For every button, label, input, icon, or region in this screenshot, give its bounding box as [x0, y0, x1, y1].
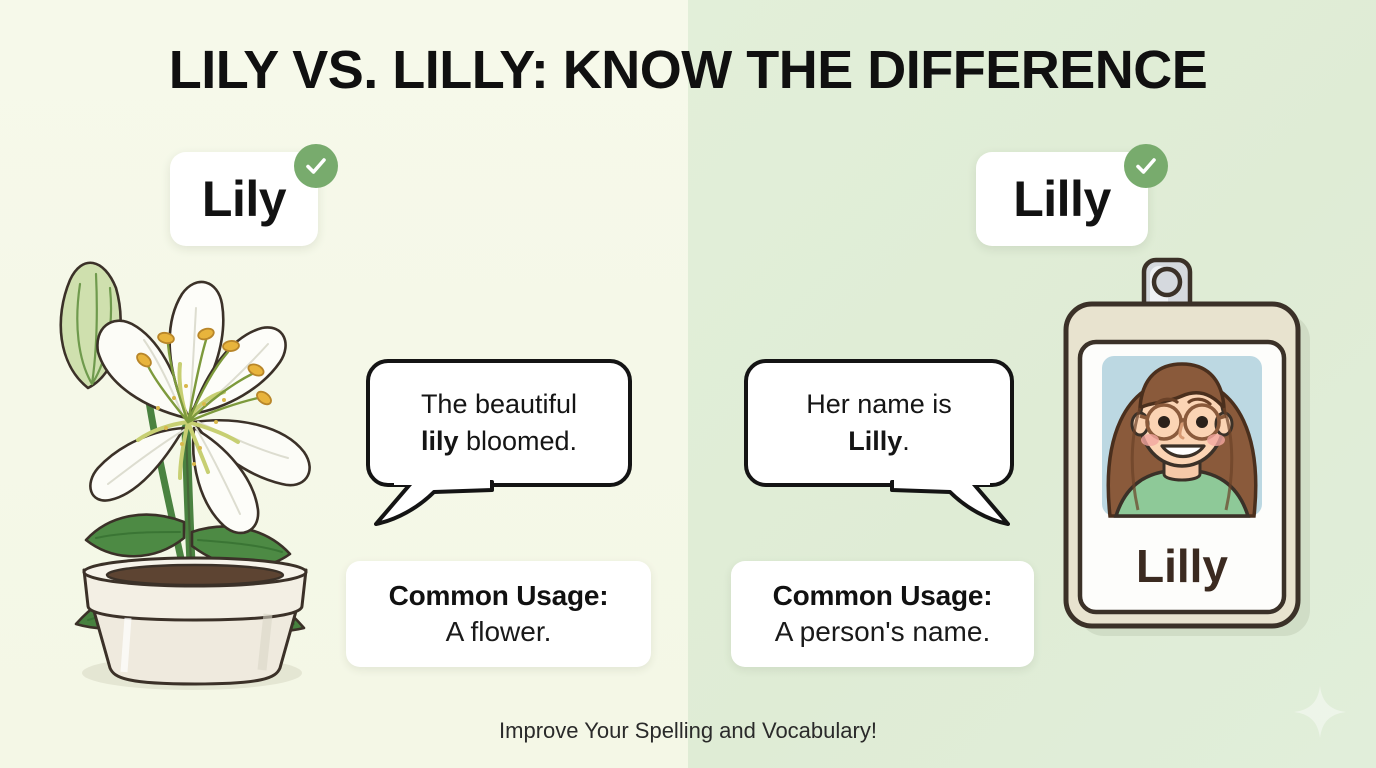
usage-card-lily-value: A flower. [446, 614, 552, 650]
left-eye [1158, 416, 1170, 428]
check-circle-icon-lilly [1124, 144, 1168, 188]
example-bubble-lilly: Her name is Lilly. [744, 359, 1014, 487]
bubble-tail-left [374, 480, 494, 526]
check-circle-icon-lily [294, 144, 338, 188]
bubble-right-line1: Her name is [806, 389, 952, 419]
check-icon [1133, 153, 1159, 179]
infographic-canvas: LILY VS. LILLY: KNOW THE DIFFERENCE Lily [0, 0, 1376, 768]
bubble-left-line1: The beautiful [421, 389, 577, 419]
example-bubble-lily: The beautiful lily bloomed. [366, 359, 632, 487]
page-title: LILY VS. LILLY: KNOW THE DIFFERENCE [0, 42, 1376, 99]
example-bubble-lily-text: The beautiful lily bloomed. [421, 386, 577, 459]
bubble-right-rest: . [902, 426, 910, 456]
badge-photo [1102, 356, 1262, 516]
badge-name-text: Lilly [1136, 540, 1228, 592]
bubble-left-rest: bloomed. [458, 426, 577, 456]
footer-tagline: Improve Your Spelling and Vocabulary! [0, 718, 1376, 744]
pot-soil [107, 565, 283, 585]
usage-card-lily-label: Common Usage: [389, 578, 609, 614]
usage-card-lilly-label: Common Usage: [773, 578, 993, 614]
word-chip-lily-label: Lily [202, 174, 286, 224]
word-chip-lilly-label: Lilly [1013, 174, 1111, 224]
potted-lily-flower-illustration [36, 232, 356, 702]
id-badge-illustration: Lilly [1044, 252, 1334, 644]
example-bubble-lilly-text: Her name is Lilly. [806, 386, 952, 459]
usage-card-lily: Common Usage: A flower. [346, 561, 651, 667]
bubble-left-bold: lily [421, 426, 459, 456]
check-icon [303, 153, 329, 179]
bubble-tail-right [890, 480, 1010, 526]
right-eye [1196, 416, 1208, 428]
usage-card-lilly: Common Usage: A person's name. [731, 561, 1034, 667]
word-chip-lilly: Lilly [976, 152, 1148, 246]
bubble-right-bold: Lilly [848, 426, 902, 456]
usage-card-lilly-value: A person's name. [775, 614, 990, 650]
